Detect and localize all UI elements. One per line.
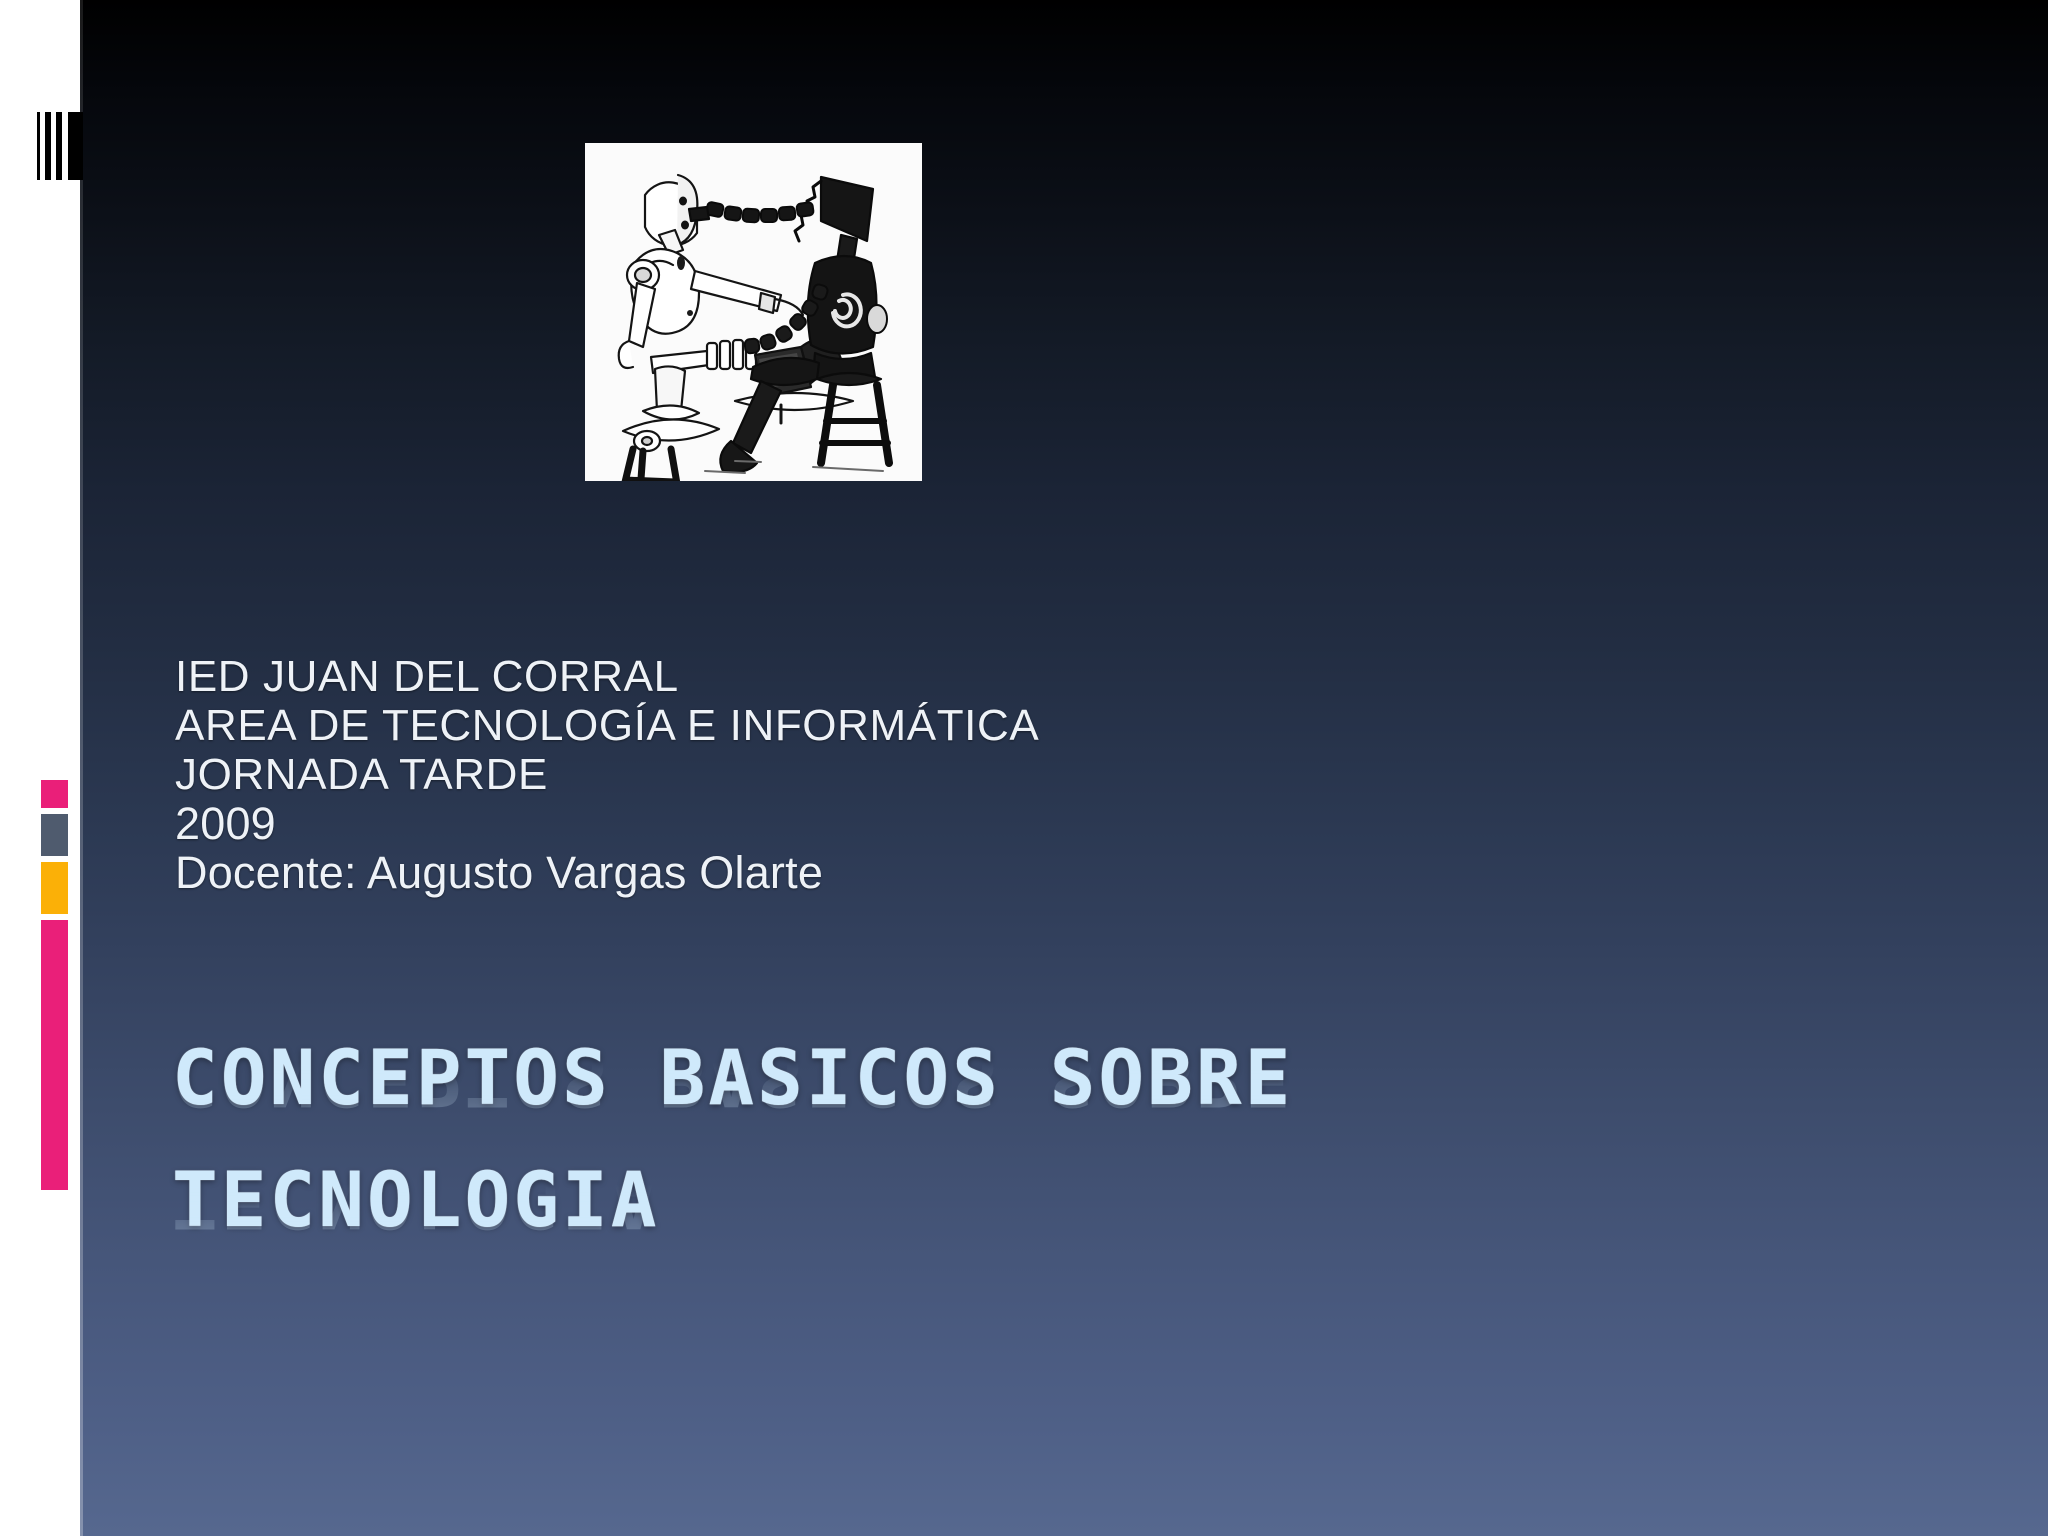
barcode-bar bbox=[37, 112, 40, 180]
color-stack-decoration bbox=[41, 780, 68, 1190]
barcode-decoration-icon bbox=[37, 112, 83, 180]
subtitle-line-area: AREA DE TECNOLOGÍA E INFORMÁTICA bbox=[175, 701, 1675, 750]
barcode-bar bbox=[56, 112, 63, 180]
title-line-1-text: CONCEPTOS BASICOS SOBRE bbox=[172, 1033, 1293, 1122]
presentation-slide: IED JUAN DEL CORRAL AREA DE TECNOLOGÍA E… bbox=[0, 0, 2048, 1536]
color-block-pink-long bbox=[41, 920, 68, 1190]
left-margin-band bbox=[0, 0, 80, 1536]
color-block-pink-top bbox=[41, 780, 68, 808]
subtitle-line-year: 2009 bbox=[175, 799, 1675, 848]
slide-canvas: IED JUAN DEL CORRAL AREA DE TECNOLOGÍA E… bbox=[80, 0, 2048, 1536]
subtitle-line-teacher: Docente: Augusto Vargas Olarte bbox=[175, 848, 1675, 897]
title-line-2-text: TECNOLOGIA bbox=[172, 1155, 660, 1244]
barcode-bar bbox=[68, 112, 83, 180]
slide-title: CONCEPTOS BASICOS SOBRE CONCEPTOS BASICO… bbox=[172, 1042, 1972, 1236]
subtitle-line-school: IED JUAN DEL CORRAL bbox=[175, 652, 1675, 701]
subtitle-line-jornada: JORNADA TARDE bbox=[175, 750, 1675, 799]
color-block-slate bbox=[41, 814, 68, 856]
subtitle-block: IED JUAN DEL CORRAL AREA DE TECNOLOGÍA E… bbox=[175, 652, 1675, 897]
title-line-1: CONCEPTOS BASICOS SOBRE CONCEPTOS BASICO… bbox=[172, 1042, 1972, 1114]
robots-illustration bbox=[585, 143, 922, 481]
robots-illustration-svg bbox=[585, 143, 922, 481]
barcode-bar bbox=[45, 112, 50, 180]
title-line-2: TECNOLOGIA TECNOLOGIA bbox=[172, 1164, 1972, 1236]
color-block-amber bbox=[41, 862, 68, 914]
